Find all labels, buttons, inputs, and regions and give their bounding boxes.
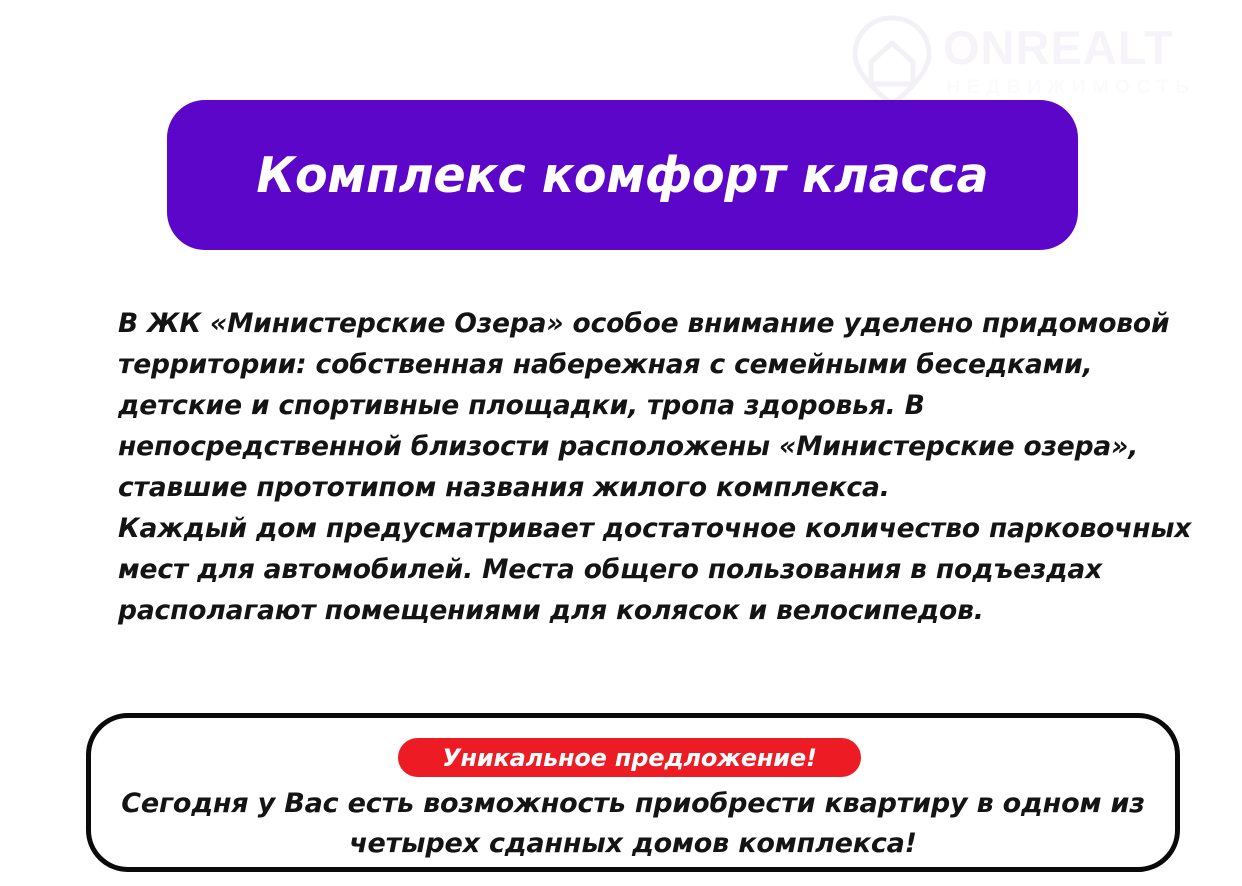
promo-page: ONREALT НЕДВИЖИМОСТЬ Комплекс комфорт кл… (0, 0, 1242, 886)
headline-title: Комплекс комфорт класса (256, 151, 988, 200)
onrealt-watermark: ONREALT НЕДВИЖИМОСТЬ (838, 6, 1242, 110)
headline-banner: Комплекс комфорт класса (167, 100, 1078, 250)
watermark-subtitle: НЕДВИЖИМОСТЬ (946, 78, 1196, 98)
offer-message: Сегодня у Вас есть возможность приобрест… (110, 784, 1156, 864)
description-paragraph-1: В ЖК «Министерские Озера» особое внимани… (118, 303, 1208, 508)
unique-offer-badge: Уникальное предложение! (398, 738, 861, 777)
description-paragraph-2: Каждый дом предусматривает достаточное к… (118, 508, 1208, 631)
house-pin-logo-icon (846, 14, 938, 106)
watermark-brand: ONREALT (943, 24, 1174, 71)
unique-offer-badge-label: Уникальное предложение! (442, 746, 817, 770)
description-block: В ЖК «Министерские Озера» особое внимани… (118, 303, 1208, 631)
